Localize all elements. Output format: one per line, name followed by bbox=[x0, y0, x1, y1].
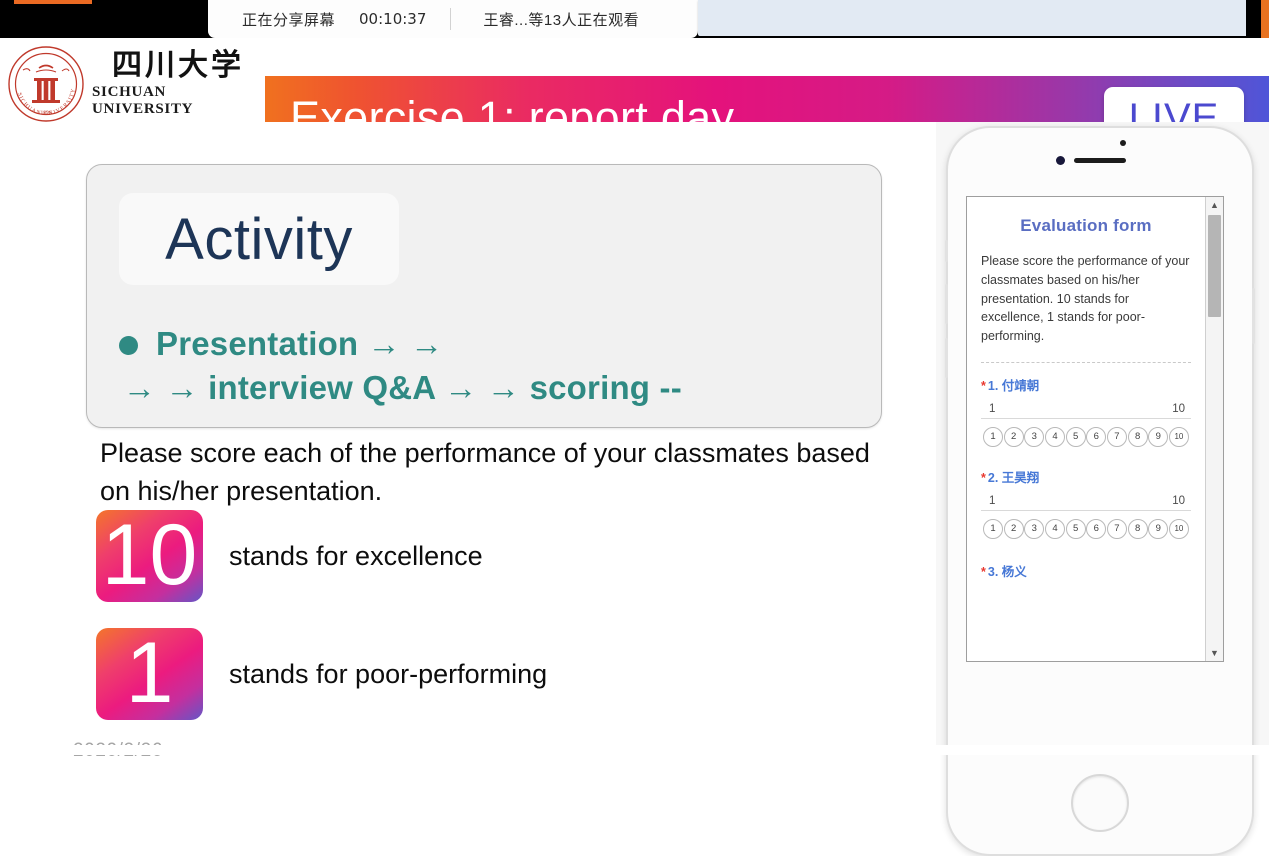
screen-share-status-bar[interactable]: 正在分享屏幕 00:10:37 王睿...等13人正在观看 bbox=[208, 0, 698, 38]
question-2-name: 王昊翔 bbox=[1002, 471, 1040, 485]
rating-option-1[interactable]: 1 bbox=[983, 427, 1003, 447]
score-badge-10-label: stands for excellence bbox=[229, 541, 483, 572]
score-badge-1: 1 bbox=[96, 628, 203, 720]
rating-option-10[interactable]: 10 bbox=[1169, 427, 1189, 447]
question-1-name: 付靖朝 bbox=[1002, 379, 1040, 393]
question-3-name: 杨义 bbox=[1002, 565, 1027, 579]
score-badge-1-value: 1 bbox=[126, 634, 174, 713]
scale-min-label: 1 bbox=[989, 495, 995, 507]
rating-option-2[interactable]: 2 bbox=[1004, 519, 1024, 539]
form-title: Evaluation form bbox=[967, 216, 1205, 236]
form-question-1: *1. 付靖朝 1 10 1 2 3 4 5 6 7 bbox=[981, 379, 1191, 447]
form-divider bbox=[981, 362, 1191, 363]
activity-heading: Activity bbox=[165, 206, 353, 273]
scrollbar-thumb[interactable] bbox=[1208, 215, 1221, 317]
sharing-status-label: 正在分享屏幕 bbox=[242, 9, 335, 30]
zoom-meeting-topbar: 正在分享屏幕 00:10:37 王睿...等13人正在观看 bbox=[0, 0, 1269, 38]
form-question-3: *3. 杨义 bbox=[981, 565, 1191, 580]
question-1-scale-endpoints: 1 10 bbox=[981, 403, 1191, 415]
question-2-heading: *2. 王昊翔 bbox=[981, 471, 1191, 486]
form-scrollbar[interactable]: ▲ ▼ bbox=[1205, 197, 1223, 661]
instruction-paragraph: Please score each of the performance of … bbox=[100, 435, 890, 511]
phone-sensor-icon bbox=[1120, 140, 1126, 146]
rating-option-2[interactable]: 2 bbox=[1004, 427, 1024, 447]
required-marker-icon: * bbox=[981, 565, 986, 579]
university-name-cn: 四川大学 bbox=[112, 50, 244, 82]
rating-option-3[interactable]: 3 bbox=[1024, 427, 1044, 447]
scale-max-label: 10 bbox=[1172, 403, 1185, 415]
rating-option-8[interactable]: 8 bbox=[1128, 427, 1148, 447]
orange-accent-right bbox=[1261, 0, 1269, 38]
form-question-2: *2. 王昊翔 1 10 1 2 3 4 5 6 7 bbox=[981, 471, 1191, 539]
question-1-heading: *1. 付靖朝 bbox=[981, 379, 1191, 394]
question-3-number: 3. bbox=[988, 565, 998, 579]
rating-option-7[interactable]: 7 bbox=[1107, 427, 1127, 447]
phone-speaker-icon bbox=[1074, 158, 1126, 163]
score-badge-1-label: stands for poor-performing bbox=[229, 659, 547, 690]
score-badge-10: 10 bbox=[96, 510, 203, 602]
rating-option-3[interactable]: 3 bbox=[1024, 519, 1044, 539]
form-description: Please score the performance of your cla… bbox=[981, 252, 1191, 346]
rating-option-1[interactable]: 1 bbox=[983, 519, 1003, 539]
phone-home-button[interactable] bbox=[1071, 774, 1129, 832]
bottom-strip bbox=[0, 745, 1269, 755]
scale-min-label: 1 bbox=[989, 403, 995, 415]
scale-max-label: 10 bbox=[1172, 495, 1185, 507]
score-legend-row-1: 1 stands for poor-performing bbox=[96, 628, 547, 720]
black-filler-right bbox=[1246, 0, 1262, 38]
question-2-rating-options: 1 2 3 4 5 6 7 8 9 10 bbox=[981, 519, 1191, 539]
university-logo: 1896 SICHUAN UNIVERSITY 四川大学 SICHUAN UNI… bbox=[6, 42, 264, 126]
question-1-rating-options: 1 2 3 4 5 6 7 8 9 10 bbox=[981, 427, 1191, 447]
rating-option-6[interactable]: 6 bbox=[1086, 519, 1106, 539]
activity-bullet-list: Presentation → → → → interview Q&A → → s… bbox=[119, 323, 859, 409]
phone-screen: Evaluation form Please score the perform… bbox=[966, 196, 1224, 662]
university-name-block: 四川大学 SICHUAN UNIVERSITY bbox=[92, 50, 264, 118]
question-3-heading: *3. 杨义 bbox=[981, 565, 1191, 580]
scroll-down-arrow-icon[interactable]: ▼ bbox=[1206, 645, 1223, 661]
slide-header: 1896 SICHUAN UNIVERSITY 四川大学 SICHUAN UNI… bbox=[0, 38, 1269, 130]
status-divider bbox=[450, 8, 451, 30]
phone-camera-icon bbox=[1056, 156, 1065, 165]
phone-volume-down-button bbox=[945, 338, 948, 378]
bullet-item: Presentation → → bbox=[119, 323, 859, 365]
question-2-number: 2. bbox=[988, 471, 998, 485]
slide-body: Activity Presentation → → → → interview … bbox=[0, 122, 1269, 755]
rating-option-6[interactable]: 6 bbox=[1086, 427, 1106, 447]
question-2-scale-rule bbox=[981, 510, 1191, 511]
rating-option-7[interactable]: 7 bbox=[1107, 519, 1127, 539]
bullet-line-2-text: → → interview Q&A → → scoring -- bbox=[123, 367, 859, 409]
phone-mute-switch bbox=[945, 240, 948, 262]
question-1-scale-rule bbox=[981, 418, 1191, 419]
activity-heading-chip: Activity bbox=[119, 193, 399, 285]
bullet-line-1-text: Presentation → → bbox=[156, 323, 443, 365]
university-name-en: SICHUAN UNIVERSITY bbox=[92, 84, 264, 118]
bullet-dot-icon bbox=[119, 336, 138, 355]
sichuan-university-seal-icon: 1896 SICHUAN UNIVERSITY bbox=[6, 44, 86, 124]
rating-option-8[interactable]: 8 bbox=[1128, 519, 1148, 539]
question-2-scale-endpoints: 1 10 bbox=[981, 495, 1191, 507]
rating-option-5[interactable]: 5 bbox=[1066, 427, 1086, 447]
score-badge-10-value: 10 bbox=[102, 516, 198, 595]
required-marker-icon: * bbox=[981, 379, 986, 393]
scroll-down-glyph: ▼ bbox=[1210, 649, 1219, 658]
evaluation-form: Evaluation form Please score the perform… bbox=[967, 197, 1205, 661]
activity-card: Activity Presentation → → → → interview … bbox=[86, 164, 882, 428]
rating-option-5[interactable]: 5 bbox=[1066, 519, 1086, 539]
required-marker-icon: * bbox=[981, 471, 986, 485]
zoom-toolbar-panel[interactable] bbox=[698, 0, 1246, 36]
viewers-label: 王睿...等13人正在观看 bbox=[483, 9, 639, 30]
phone-volume-up-button bbox=[945, 284, 948, 324]
score-legend-row-10: 10 stands for excellence bbox=[96, 510, 483, 602]
scroll-up-arrow-icon[interactable]: ▲ bbox=[1206, 197, 1223, 213]
elapsed-timer: 00:10:37 bbox=[359, 10, 426, 28]
question-1-number: 1. bbox=[988, 379, 998, 393]
rating-option-10[interactable]: 10 bbox=[1169, 519, 1189, 539]
scroll-up-glyph: ▲ bbox=[1210, 201, 1219, 210]
rating-option-4[interactable]: 4 bbox=[1045, 427, 1065, 447]
rating-option-4[interactable]: 4 bbox=[1045, 519, 1065, 539]
rating-option-9[interactable]: 9 bbox=[1148, 427, 1168, 447]
phone-power-button bbox=[1252, 288, 1255, 344]
rating-option-9[interactable]: 9 bbox=[1148, 519, 1168, 539]
orange-accent-left bbox=[14, 0, 92, 4]
